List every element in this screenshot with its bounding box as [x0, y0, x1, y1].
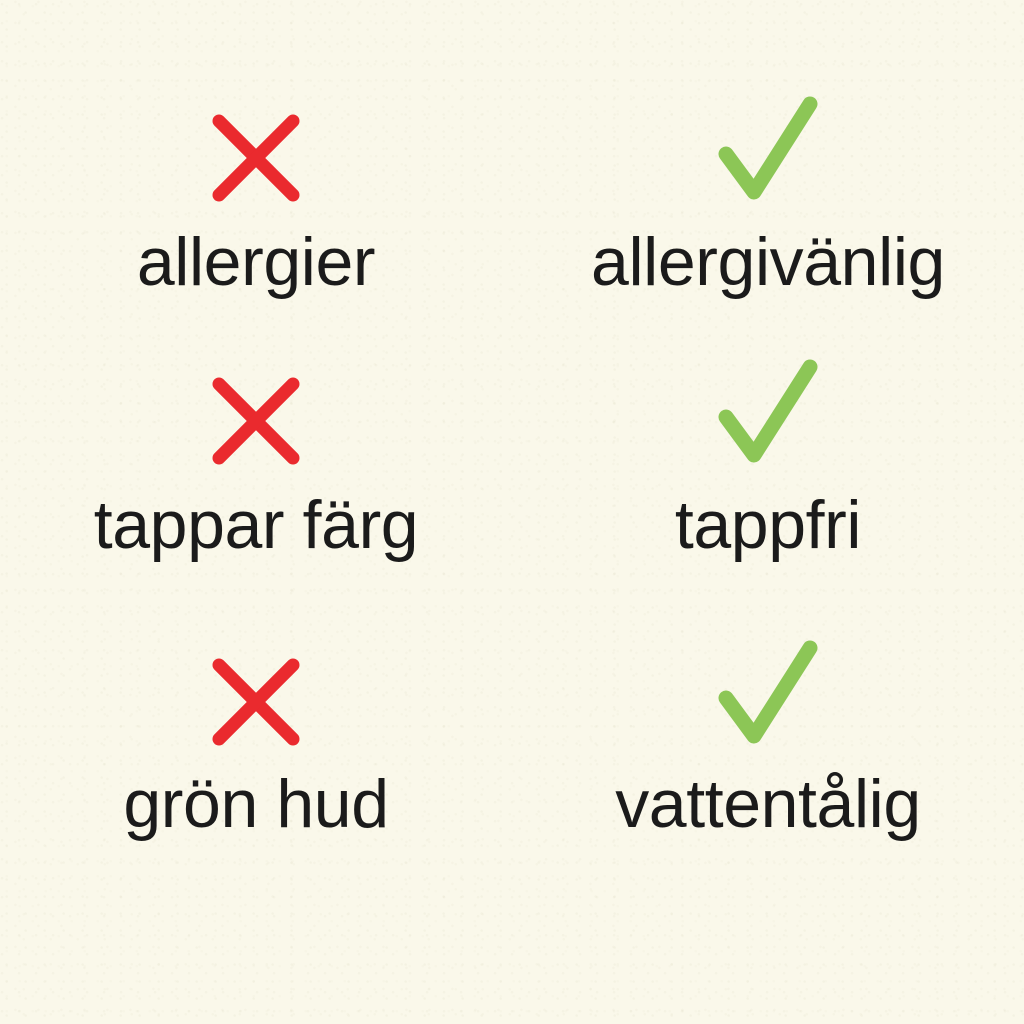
bottom-spacer-right — [512, 854, 1024, 1024]
check-icon — [716, 355, 820, 467]
checklist-item-negative-2: tappar färg — [0, 300, 512, 577]
comparison-checklist-canvas: allergier allergivänlig tappar fä — [0, 0, 1024, 1024]
checklist-item-positive-2: tappfri — [512, 300, 1024, 577]
checklist-item-positive-1: allergivänlig — [512, 0, 1024, 300]
comparison-grid: allergier allergivänlig tappar fä — [0, 0, 1024, 1024]
checklist-label: grön hud — [123, 770, 388, 838]
checklist-item-positive-3: vattentålig — [512, 577, 1024, 854]
checklist-label: vattentålig — [615, 770, 921, 838]
cross-icon — [210, 375, 302, 467]
cross-icon — [210, 656, 302, 748]
bottom-spacer-left — [0, 854, 512, 1024]
checklist-item-negative-3: grön hud — [0, 577, 512, 854]
checklist-label: tappfri — [675, 491, 861, 559]
check-icon — [716, 636, 820, 748]
checklist-label: allergivänlig — [591, 228, 945, 296]
checklist-label: tappar färg — [94, 491, 418, 559]
cross-icon — [210, 112, 302, 204]
check-icon — [716, 92, 820, 204]
checklist-item-negative-1: allergier — [0, 0, 512, 300]
checklist-label: allergier — [137, 228, 375, 296]
